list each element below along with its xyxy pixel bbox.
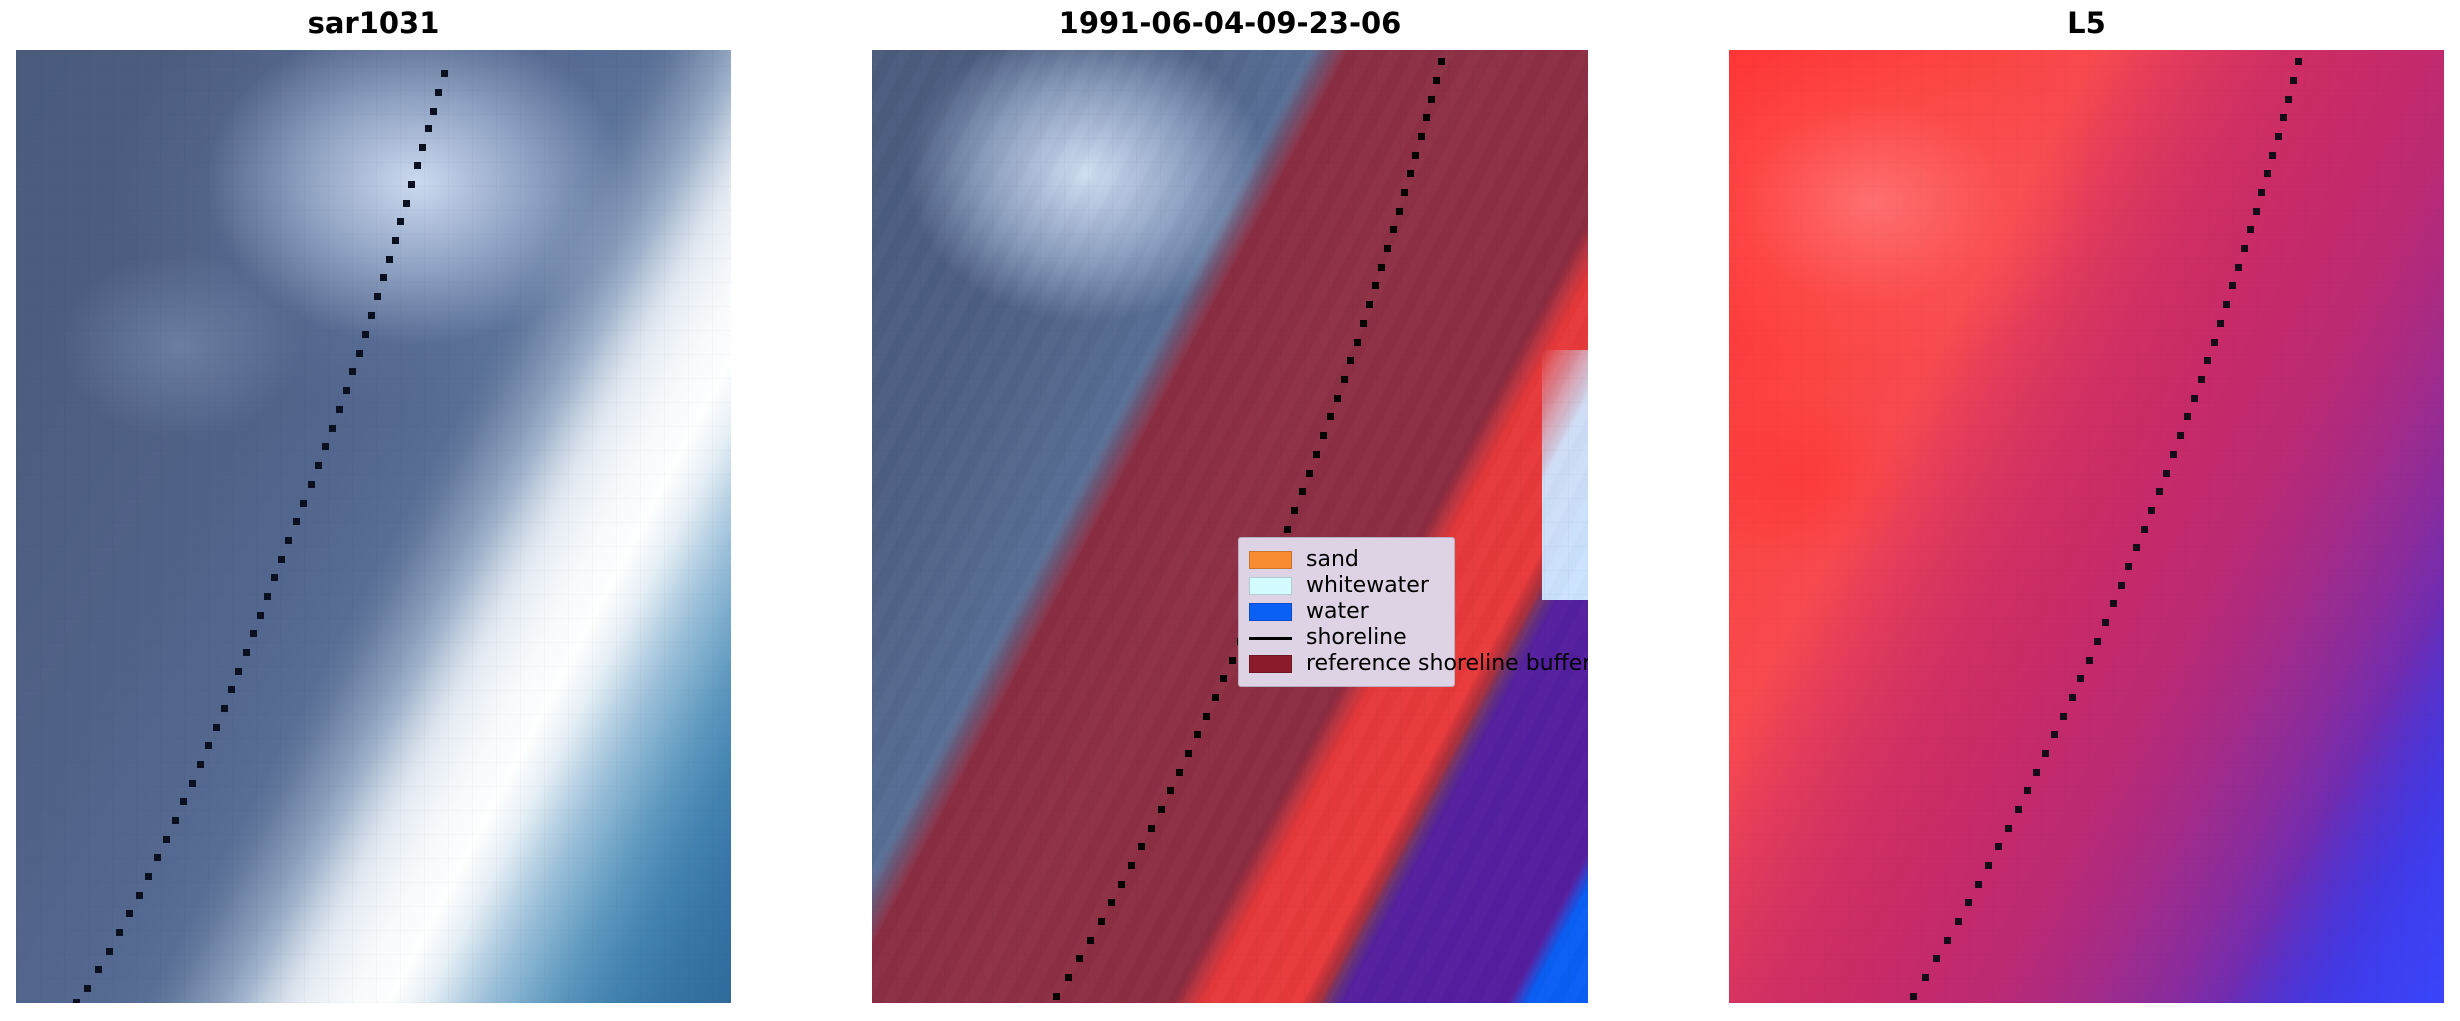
panel-title-classification: 1991-06-04-09-23-06 [872,6,1588,40]
panel-classification: 1991-06-04-09-23-06 [872,0,1588,1021]
panel-sar: sar1031 [16,0,731,1021]
legend-label-water: water [1306,601,1369,623]
legend-item-reference-shoreline-buffer[interactable]: reference shoreline buffer [1249,651,1443,677]
water-color-swatch [1249,603,1292,621]
sand-color-swatch [1249,551,1292,569]
panel-l5: L5 [1729,0,2444,1021]
figure-canvas: sar1031 [0,0,2460,1021]
legend-item-shoreline[interactable]: shoreline [1249,625,1443,651]
classification-pixel-grid [872,50,1588,1003]
panel-title-l5: L5 [1729,6,2444,40]
panel-title-sar: sar1031 [16,6,731,40]
sar-pixel-grid [16,50,731,1003]
shoreline-line-swatch [1249,637,1292,640]
legend-item-whitewater[interactable]: whitewater [1249,573,1443,599]
whitewater-color-swatch [1249,577,1292,595]
axes-l5 [1729,50,2444,1003]
legend-item-sand[interactable]: sand [1249,547,1443,573]
axes-sar [16,50,731,1003]
legend-label-whitewater: whitewater [1306,575,1429,597]
legend-item-water[interactable]: water [1249,599,1443,625]
legend-label-reference-shoreline-buffer: reference shoreline buffer [1306,653,1588,675]
axes-classification: sand whitewater water shoreline referenc… [872,50,1588,1003]
legend-box[interactable]: sand whitewater water shoreline referenc… [1238,537,1455,687]
legend-label-shoreline: shoreline [1306,627,1407,649]
l5-pixel-grid [1729,50,2444,1003]
reference-buffer-color-swatch [1249,655,1292,673]
legend-label-sand: sand [1306,549,1359,571]
